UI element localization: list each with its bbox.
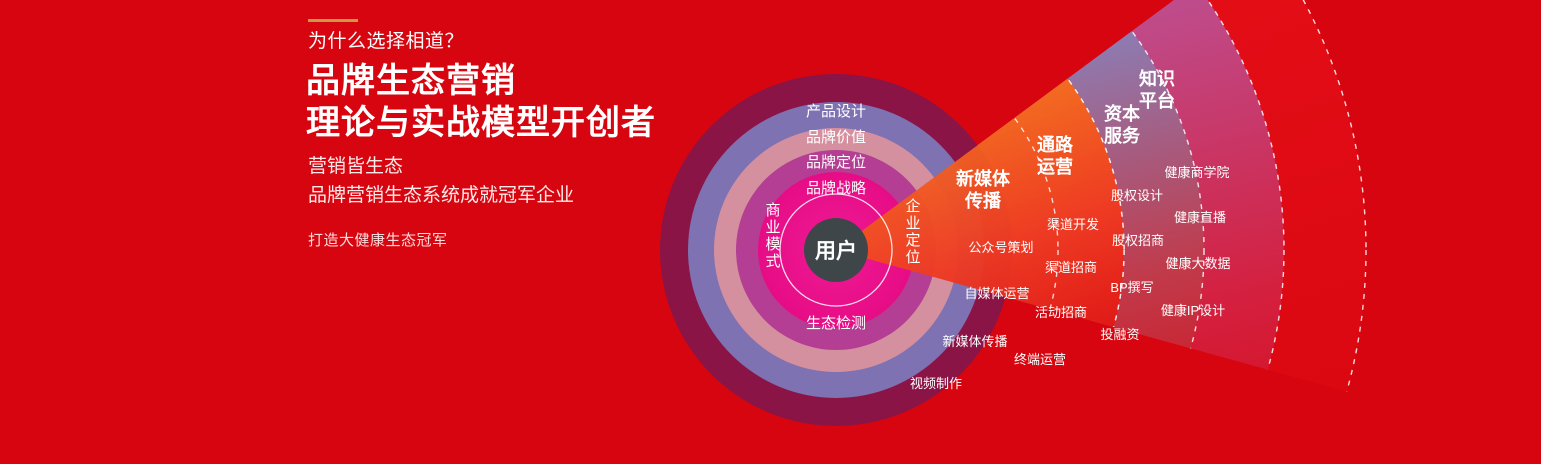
band-title-knowledge-l2: 平台: [1139, 90, 1175, 111]
banner-stage: 为什么选择相道？ 品牌生态营销 理论与实战模型开创者 营销皆生态 品牌营销生态系…: [0, 0, 1541, 464]
gold-rule-divider: [308, 19, 358, 22]
core-label: 用户: [815, 239, 857, 263]
band-item-knowledge-0: 健康商学院: [1164, 165, 1229, 180]
eyebrow-text: 为什么选择相道？: [308, 26, 464, 53]
band-item-capital-1: 股权招商: [1112, 233, 1164, 248]
subtitle-line-2: 品牌营销生态系统成就冠军企业: [308, 181, 574, 210]
subtitle-block: 营销皆生态 品牌营销生态系统成就冠军企业: [308, 152, 574, 210]
band-title-channel-l1: 通路: [1037, 134, 1074, 155]
band-item-channel-1: 渠道招商: [1045, 260, 1097, 275]
band-title-capital-l2: 服务: [1104, 125, 1141, 146]
band-item-new-media-1: 自媒体运营: [964, 286, 1029, 301]
band-title-knowledge-l1: 知识: [1139, 68, 1175, 89]
ring-label-brand-value: 品牌价值: [806, 129, 866, 146]
ecosystem-diagram: 用户 产品设计 品牌价值 品牌定位 品牌战略 生态检测 商业模式 企业定位 新媒…: [620, 0, 1541, 464]
band-item-capital-0: 股权设计: [1111, 188, 1163, 203]
ring-label-brand-position: 品牌定位: [806, 154, 866, 171]
band-title-capital-l1: 资本: [1104, 103, 1140, 124]
band-item-new-media-0: 公众号策划: [968, 240, 1033, 255]
band-title-channel-l2: 运营: [1037, 156, 1073, 177]
headline-line-1: 品牌生态营销: [306, 60, 656, 102]
ring-label-business-model: 商业模式: [764, 202, 781, 270]
band-item-knowledge-1: 健康直播: [1174, 210, 1226, 225]
band-item-channel-3: 终端运营: [1014, 352, 1066, 367]
ring-label-eco-detection: 生态检测: [806, 315, 866, 332]
wedge-label-enterprise-position: 企业定位: [904, 197, 921, 266]
band-title-new-media-l2: 传播: [964, 190, 1002, 211]
page-title: 品牌生态营销 理论与实战模型开创者: [306, 60, 656, 144]
band-item-capital-2: BP撰写: [1110, 280, 1153, 295]
band-item-channel-2: 活动招商: [1035, 305, 1087, 320]
ring-label-brand-strategy: 品牌战略: [806, 180, 866, 197]
band-item-new-media-2: 新媒体传播: [942, 334, 1007, 349]
band-item-capital-3: 投融资: [1100, 327, 1139, 342]
band-item-knowledge-3: 健康IP设计: [1161, 303, 1225, 318]
headline-line-2: 理论与实战模型开创者: [306, 102, 656, 144]
band-item-channel-0: 渠道开发: [1047, 217, 1099, 232]
band-title-new-media-l1: 新媒体: [956, 168, 1011, 189]
subtitle-line-1: 营销皆生态: [308, 152, 574, 181]
tagline-text: 打造大健康生态冠军: [308, 229, 448, 250]
band-item-new-media-3: 视频制作: [910, 376, 962, 391]
band-item-knowledge-2: 健康大数据: [1165, 256, 1230, 271]
ring-label-product-design: 产品设计: [806, 103, 866, 120]
